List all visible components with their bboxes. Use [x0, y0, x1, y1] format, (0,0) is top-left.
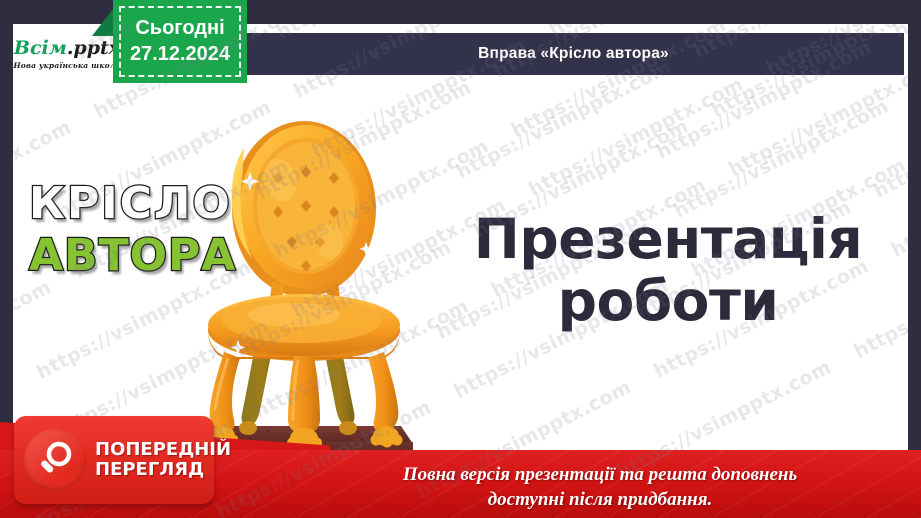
- date-badge-value: 27.12.2024: [130, 42, 230, 68]
- chair-illustration: [198, 114, 413, 459]
- purchase-note-line-1: Повна версія презентації та решта доповн…: [300, 462, 900, 487]
- logo-name-prefix: Всім: [14, 37, 67, 59]
- preview-button[interactable]: ПОПЕРЕДНІЙ ПЕРЕГЛЯД: [14, 416, 214, 504]
- purchase-note-line-2: доступні після придбання.: [300, 487, 900, 512]
- page-title: Презентація роботи: [433, 209, 903, 332]
- date-badge: Сьогодні 27.12.2024: [113, 0, 247, 83]
- presentation-slide: https://vsimpptx.com https://vsimpptx.co…: [0, 0, 921, 518]
- preview-label-line-1: ПОПЕРЕДНІЙ: [95, 440, 231, 460]
- preview-button-labels: ПОПЕРЕДНІЙ ПЕРЕГЛЯД: [95, 440, 231, 480]
- purchase-note: Повна версія презентації та решта доповн…: [300, 462, 900, 512]
- date-badge-label: Сьогодні: [135, 16, 224, 42]
- chair-backrest: [232, 121, 376, 297]
- header-bar: Вправа «Крісло автора»: [243, 33, 904, 75]
- magnifier-icon: [24, 429, 86, 491]
- search-icon: [34, 439, 76, 481]
- chair-front-legs: [207, 352, 403, 451]
- logo-tagline: Нова українська школа: [13, 61, 120, 70]
- preview-label-line-2: ПЕРЕГЛЯД: [95, 460, 231, 480]
- header-title: Вправа «Крісло автора»: [478, 45, 669, 63]
- logo-wordmark: Всім.pptx: [14, 39, 120, 58]
- chair-seat: [208, 294, 400, 361]
